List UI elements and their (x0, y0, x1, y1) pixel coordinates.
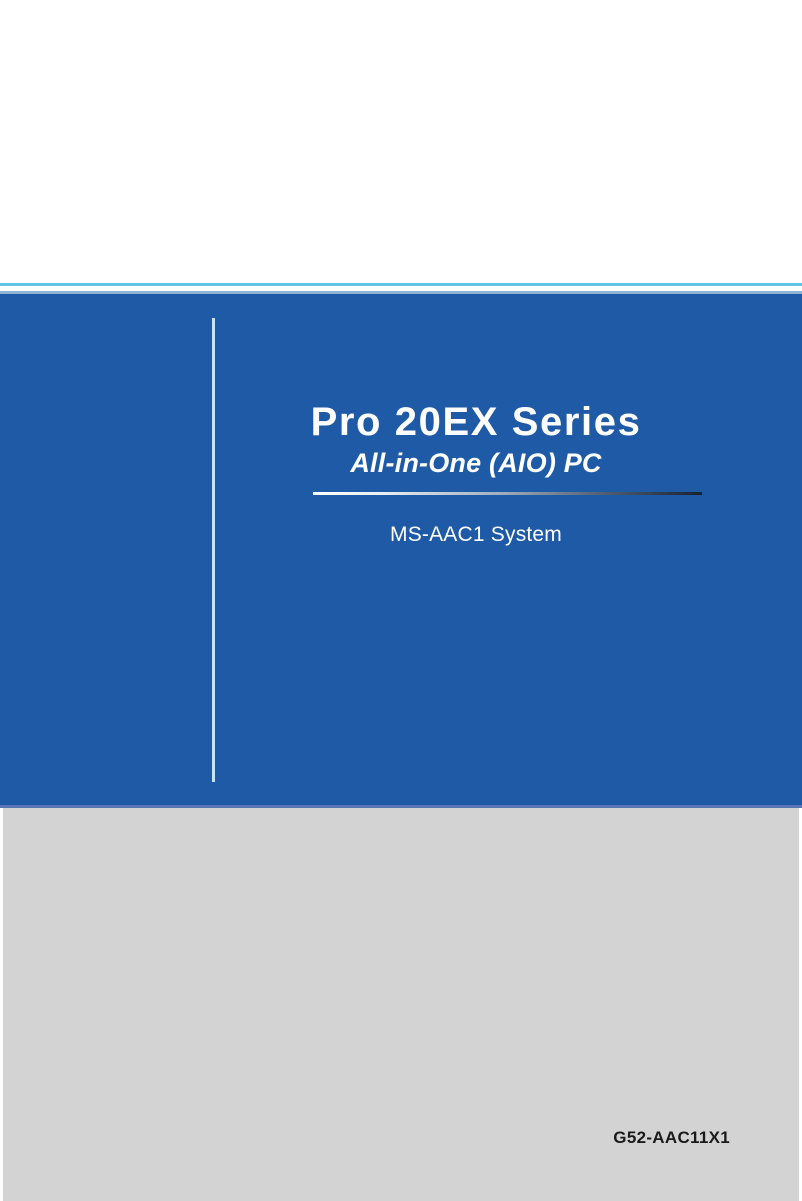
model-designation: MS-AAC1 System (250, 495, 702, 548)
vertical-accent-rule (212, 318, 215, 782)
part-number-label: G52-AAC11X1 (613, 1128, 730, 1148)
page-subtitle: All-in-One (AIO) PC (250, 446, 702, 480)
hero-blue-band (0, 294, 802, 805)
title-block: Pro 20EX Series All-in-One (AIO) PC MS-A… (250, 398, 770, 548)
footer-left-margin (0, 808, 3, 1201)
cover-page: Pro 20EX Series All-in-One (AIO) PC MS-A… (0, 0, 802, 1201)
top-white-area (0, 0, 802, 283)
page-title: Pro 20EX Series (250, 398, 702, 446)
